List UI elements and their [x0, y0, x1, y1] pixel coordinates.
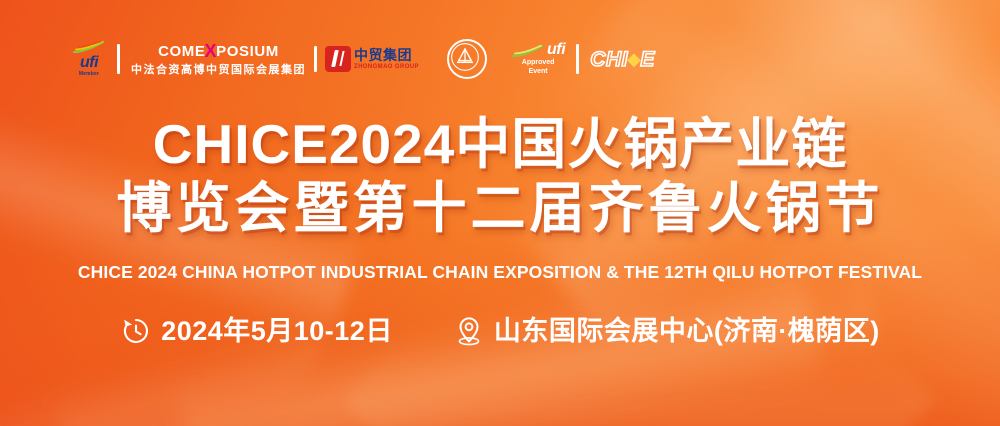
ufi-member-logo: ufi Member	[72, 41, 106, 77]
sponsor-logo-bar: ufi Member COMEXPOSIUM 中法合资高博中贸国际会展集团 中贸…	[72, 36, 655, 82]
zhongmao-badge-icon	[325, 46, 351, 72]
ufi-approved-label-line2: Event	[522, 68, 555, 76]
event-title-line-1: CHICE2024中国火锅产业链	[0, 112, 1000, 176]
comexposium-logo: COMEXPOSIUM 中法合资高博中贸国际会展集团	[131, 42, 306, 76]
event-banner: ufi Member COMEXPOSIUM 中法合资高博中贸国际会展集团 中贸…	[0, 0, 1000, 426]
ufi-approved-event-logo: ufi Approved Event	[511, 42, 565, 75]
ufi-approved-label-line1: Approved	[522, 59, 555, 67]
ufi-member-label: Member	[79, 72, 99, 77]
comexposium-word-right: POSIUM	[216, 44, 279, 59]
event-title-line-2: 博览会暨第十二届齐鲁火锅节	[0, 176, 1000, 240]
comexposium-word-left: COME	[158, 44, 205, 59]
chice-wordmark-logo: CHI◆E	[590, 49, 655, 70]
logo-divider	[576, 44, 579, 74]
event-title-block: CHICE2024中国火锅产业链 博览会暨第十二届齐鲁火锅节	[0, 112, 1000, 240]
ufi-swoosh-icon	[72, 41, 106, 54]
chice-text-right: E	[640, 49, 655, 70]
logo-divider	[117, 44, 120, 74]
chice-text-left: CHI	[590, 49, 628, 70]
comexposium-chinese-label: 中法合资高博中贸国际会展集团	[131, 65, 306, 76]
zhongmao-group-logo: 中贸集团 ZHONGMAO GROUP	[325, 46, 419, 72]
clock-history-icon	[120, 315, 152, 347]
red-seal-logo	[447, 39, 487, 79]
event-info-row: 2024年5月10-12日 山东国际会展中心(济南·槐荫区)	[0, 315, 1000, 347]
ufi-approved-swoosh-icon	[511, 45, 545, 58]
logo-divider	[314, 46, 317, 72]
event-subtitle-english: CHICE 2024 CHINA HOTPOT INDUSTRIAL CHAIN…	[0, 262, 1000, 283]
zhongmao-chinese-label: 中贸集团	[354, 48, 419, 62]
event-venue-item: 山东国际会展中心(济南·槐荫区)	[453, 315, 880, 347]
seal-emblem-icon	[449, 41, 481, 73]
event-date-text: 2024年5月10-12日	[161, 318, 393, 345]
zhongmao-english-label: ZHONGMAO GROUP	[354, 64, 419, 70]
ufi-wordmark: ufi	[80, 55, 98, 71]
event-venue-text: 山东国际会展中心(济南·槐荫区)	[494, 318, 880, 345]
location-pin-icon	[453, 315, 485, 347]
event-date-item: 2024年5月10-12日	[120, 315, 393, 347]
ufi-approved-wordmark: ufi	[547, 42, 565, 58]
